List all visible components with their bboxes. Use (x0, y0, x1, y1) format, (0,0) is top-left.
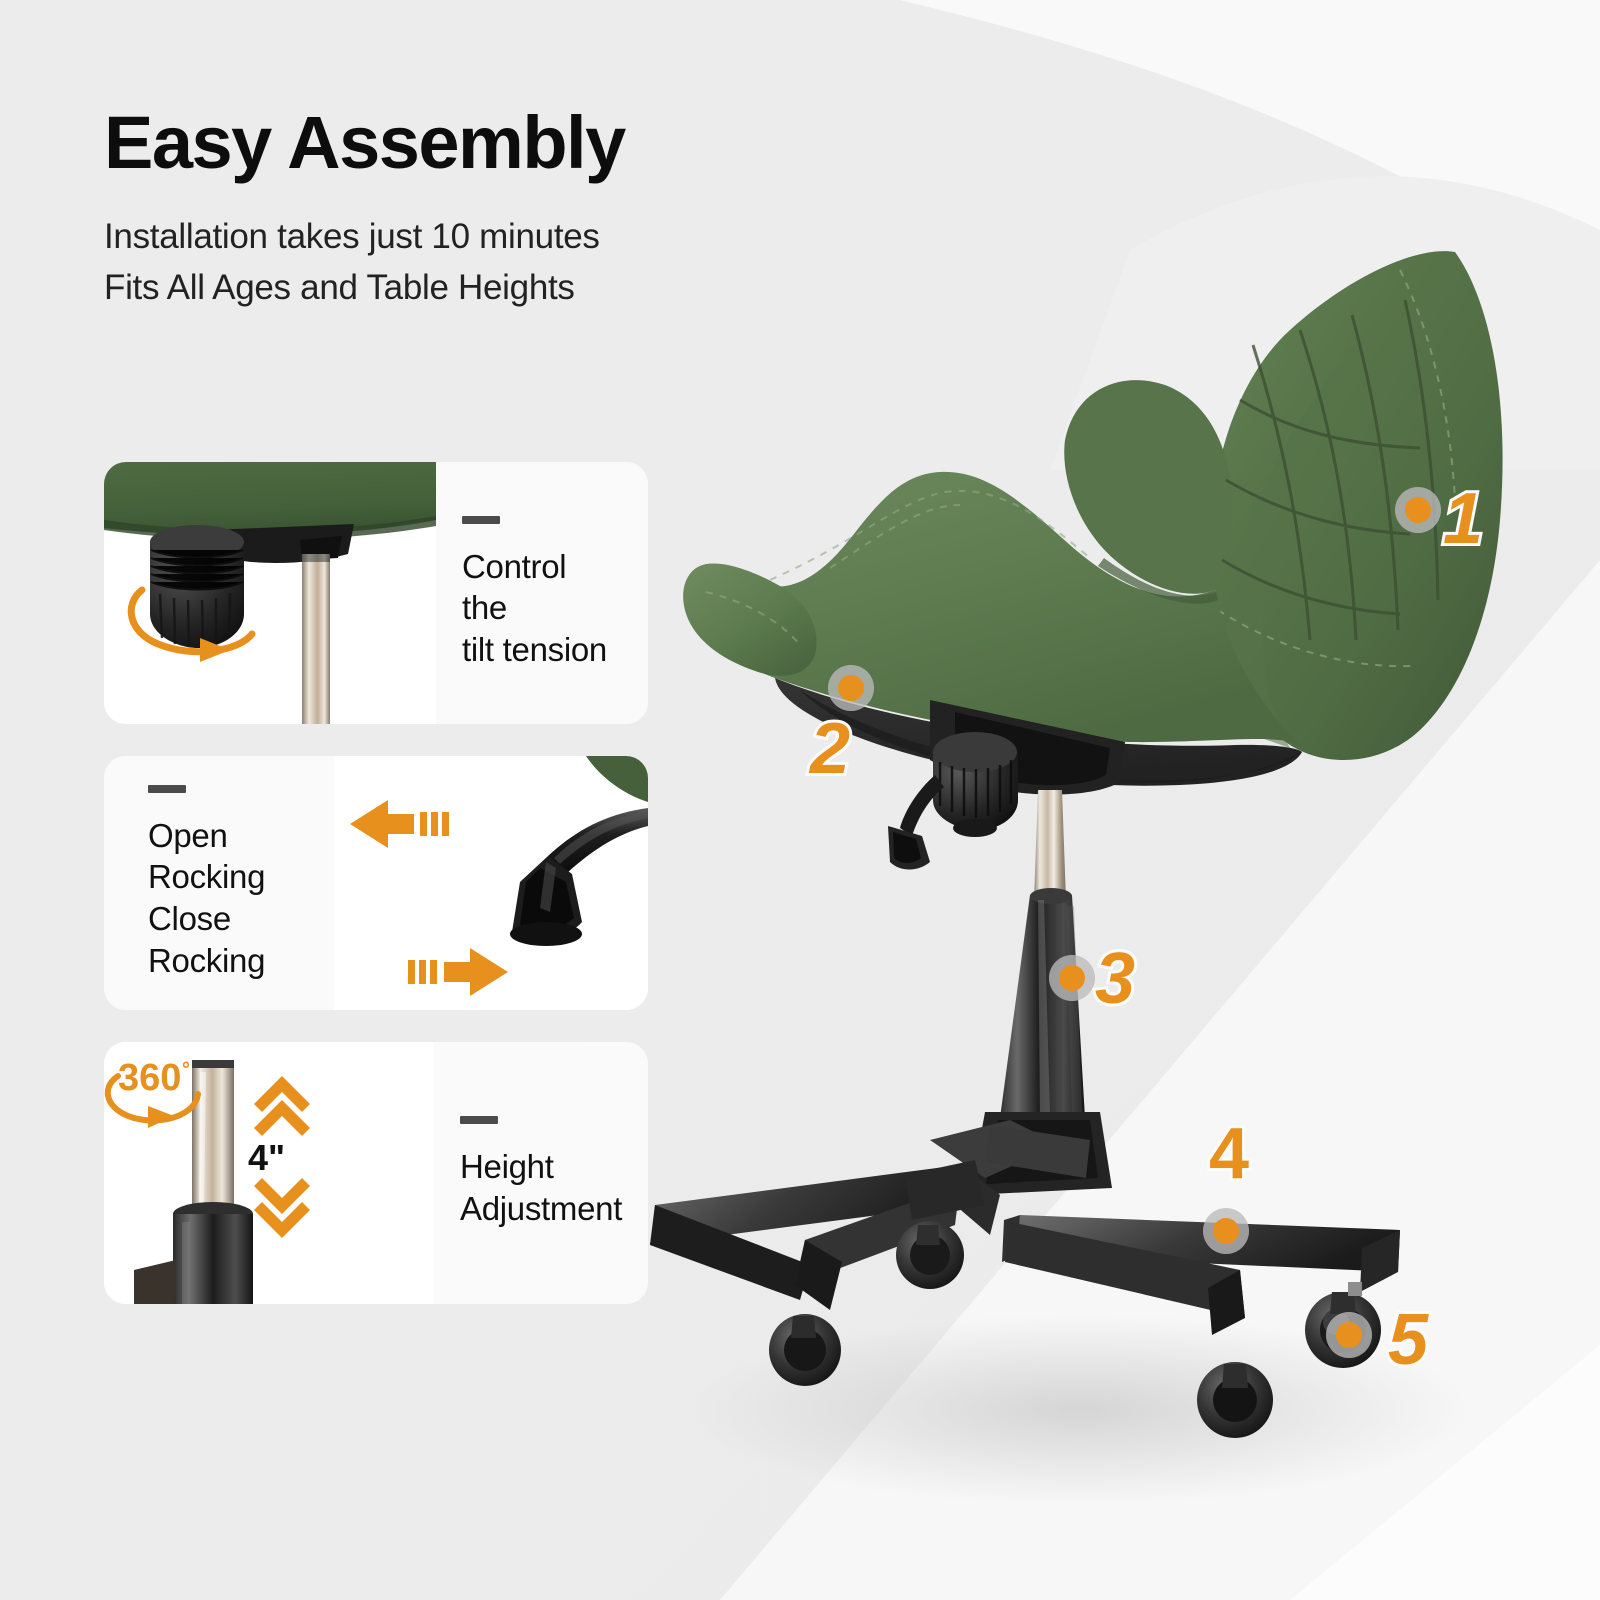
marker-number-2: 2 (810, 713, 850, 785)
subtitle-line-1: Installation takes just 10 minutes (104, 212, 625, 262)
marker-dot-2 (828, 665, 874, 711)
marker-dot-5 (1326, 1312, 1372, 1358)
svg-text:°: ° (182, 1059, 190, 1081)
marker-number-1: 1 (1443, 483, 1483, 555)
dash-divider-icon (462, 516, 500, 524)
travel-label: 4" (248, 1137, 285, 1178)
marker-dot-3 (1049, 955, 1095, 1001)
feature-card-tilt-tension[interactable]: Control the tilt tension (104, 462, 648, 724)
header-block: Easy Assembly Installation takes just 10… (104, 104, 625, 313)
card-label-height-adjustment: Height Adjustment (460, 1146, 648, 1229)
badge-360-text: 360 (118, 1057, 181, 1099)
card-text-height-adjustment: Height Adjustment (434, 1042, 648, 1304)
feature-card-rocking[interactable]: Open Rocking Close Rocking (104, 756, 648, 1010)
card-label-tilt-tension: Control the tilt tension (462, 546, 648, 671)
card-image-rocking-lever (334, 756, 648, 1010)
feature-card-height-adjustment[interactable]: 360 ° 4" Height Adjustment (104, 1042, 648, 1304)
card-label-rocking: Open Rocking Close Rocking (148, 815, 334, 981)
marker-number-5: 5 (1388, 1304, 1428, 1376)
marker-number-4: 4 (1209, 1118, 1249, 1190)
page-subtitle: Installation takes just 10 minutes Fits … (104, 212, 625, 313)
subtitle-line-2: Fits All Ages and Table Heights (104, 263, 625, 313)
card-text-rocking: Open Rocking Close Rocking (104, 756, 334, 1010)
dash-divider-icon (148, 785, 186, 793)
dash-divider-icon (460, 1116, 498, 1124)
card-image-tilt-knob (104, 462, 436, 724)
marker-dot-1 (1395, 487, 1441, 533)
page-title: Easy Assembly (104, 104, 625, 182)
card-text-tilt-tension: Control the tilt tension (436, 462, 648, 724)
card-image-gas-lift: 360 ° 4" (104, 1042, 434, 1304)
marker-dot-4 (1203, 1208, 1249, 1254)
marker-number-3: 3 (1095, 943, 1135, 1015)
